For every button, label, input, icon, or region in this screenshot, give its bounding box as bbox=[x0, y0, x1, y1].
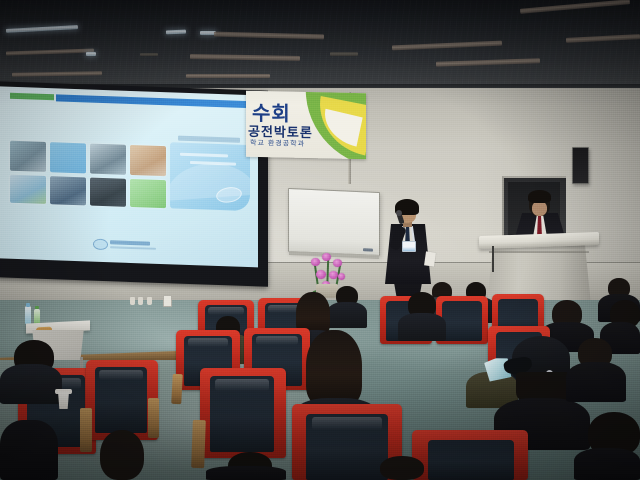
drink-bottle-green bbox=[34, 309, 40, 324]
audience-shoulders bbox=[327, 302, 367, 328]
projected-slide bbox=[0, 86, 258, 267]
auditorium-photo: 수회 공전박토론 학교 환경공학과 bbox=[0, 0, 640, 480]
seat-armrest bbox=[171, 374, 183, 404]
slide-thumbnail-white-wheel bbox=[10, 175, 46, 204]
ceiling-light-fixture bbox=[166, 30, 186, 35]
seat-armrest bbox=[191, 420, 206, 468]
seat-armrest bbox=[148, 398, 159, 438]
slide-thumbnail-machinery bbox=[10, 141, 46, 172]
ceiling-light-fixture bbox=[86, 52, 96, 56]
presenter-conference-badge bbox=[402, 241, 416, 252]
audience-head bbox=[380, 456, 424, 480]
event-banner: 수회 공전박토론 학교 환경공학과 bbox=[246, 91, 366, 160]
projection-screen bbox=[0, 81, 268, 286]
slide-accent-bar-green bbox=[10, 93, 54, 101]
audience-shoulders bbox=[566, 362, 626, 402]
slide-thumbnail-green-field bbox=[130, 179, 166, 208]
slide-accent-bar-blue bbox=[56, 94, 252, 108]
audience-shoulders bbox=[574, 448, 640, 480]
audience-head-long-hair bbox=[306, 330, 362, 406]
orchid-bloom bbox=[338, 273, 345, 280]
auditorium-seat[interactable] bbox=[200, 368, 286, 458]
orchid-bloom bbox=[316, 270, 326, 279]
podium-microphone-stem bbox=[492, 246, 494, 272]
wall-power-outlet bbox=[163, 295, 172, 307]
microphone-head-icon bbox=[396, 210, 402, 216]
orchid-bloom bbox=[311, 258, 320, 266]
ceiling-light-fixture bbox=[330, 52, 358, 56]
slide-thumbnail-factory bbox=[50, 176, 86, 205]
slide-thumbnail-blue-sky bbox=[50, 142, 86, 173]
paper-cup-on-floor bbox=[138, 297, 143, 305]
ceiling-light-fixture bbox=[186, 74, 270, 78]
slide-thumbnail-hands-globe bbox=[130, 145, 166, 176]
slide-thumbnail-keyboard bbox=[90, 178, 126, 207]
wall-loudspeaker bbox=[572, 147, 589, 184]
slide-thumbnail-drill-tool bbox=[90, 144, 126, 175]
auditorium-seat[interactable] bbox=[412, 430, 528, 480]
audience-head bbox=[100, 430, 144, 480]
slide-logo-oval-mark bbox=[93, 239, 108, 251]
slide-panel-line-1 bbox=[180, 153, 228, 158]
ceiling-texture bbox=[0, 0, 640, 92]
ceiling-light-fixture bbox=[140, 53, 158, 56]
whiteboard bbox=[288, 188, 380, 256]
audience-shoulders bbox=[398, 313, 446, 341]
orchid-bloom bbox=[329, 271, 338, 279]
slide-footer-logo bbox=[93, 238, 159, 253]
paper-cup-on-floor bbox=[130, 297, 135, 305]
slide-logo-subtitle bbox=[110, 246, 156, 250]
podium-seam bbox=[489, 251, 589, 253]
paper-cup-on-floor bbox=[147, 297, 152, 305]
audience-shoulders bbox=[0, 420, 58, 480]
seat-armrest bbox=[80, 408, 92, 452]
slide-logo-company-name bbox=[110, 240, 150, 245]
bottle-cap bbox=[26, 303, 30, 307]
banner-subtitle: 학교 환경공학과 bbox=[250, 138, 305, 149]
orchid-bloom bbox=[333, 259, 342, 267]
moderator-face bbox=[532, 201, 547, 216]
orchid-bloom bbox=[322, 253, 331, 261]
slide-url-text bbox=[178, 136, 240, 143]
whiteboard-magnet bbox=[363, 248, 373, 251]
slide-title-panel bbox=[170, 142, 250, 211]
audience-shoulders bbox=[0, 364, 62, 404]
bottle-cap bbox=[35, 306, 39, 309]
presenter-notes-paper bbox=[424, 251, 436, 266]
moderator-hair bbox=[528, 190, 551, 203]
audience-shoulders bbox=[206, 466, 286, 480]
water-bottle-blue bbox=[25, 306, 31, 324]
